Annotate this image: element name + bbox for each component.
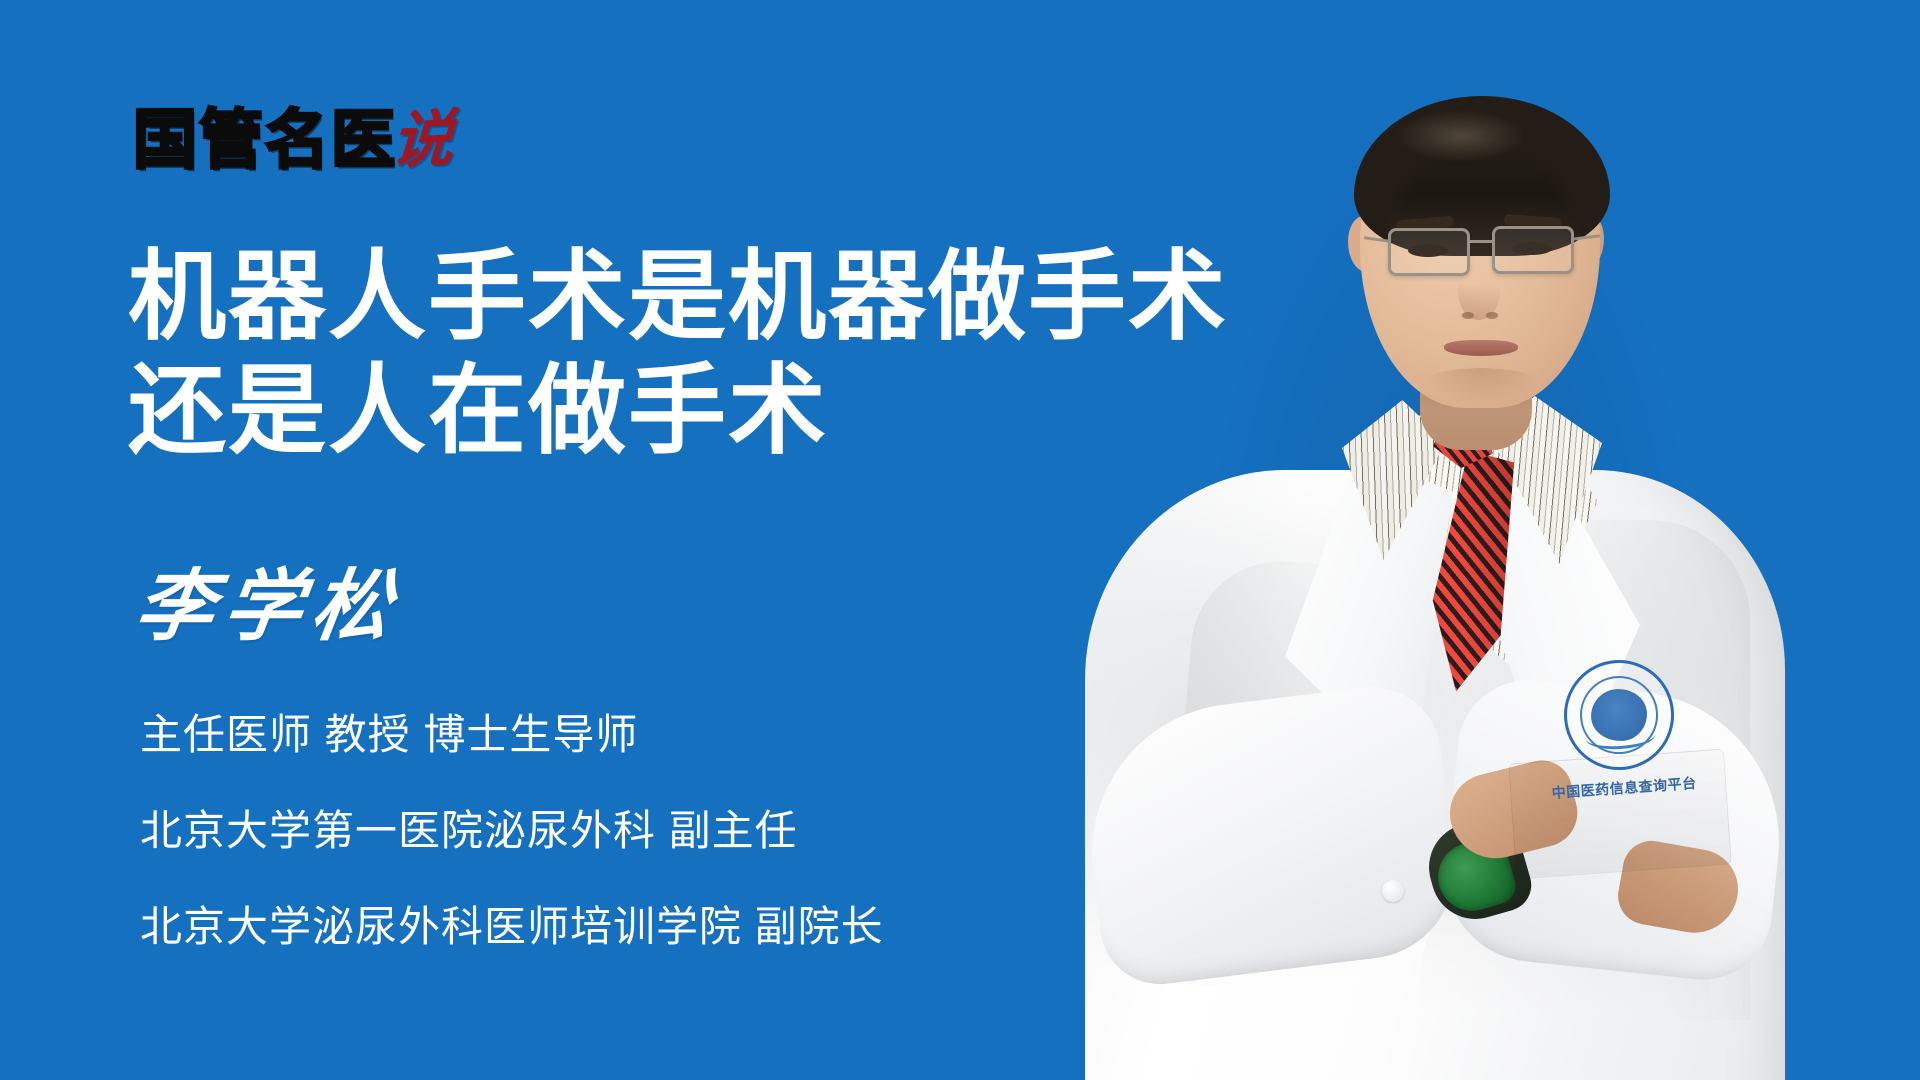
chin-shadow bbox=[1420, 368, 1542, 402]
speaker-portrait: 中国医药信息查询平台 bbox=[1120, 0, 1920, 1080]
eyeglasses-bridge bbox=[1469, 240, 1494, 243]
title-line-1: 机器人手术是机器做手术 bbox=[128, 240, 1128, 354]
slide-canvas: 国管名医 说 机器人手术是机器做手术 还是人在做手术 李学松 主任医师 教授 博… bbox=[0, 0, 1920, 1080]
speaker-name: 李学松 bbox=[131, 568, 406, 646]
credential-line: 北京大学第一医院泌尿外科 副主任 bbox=[140, 810, 884, 852]
coat-badge: 中国医药信息查询平台 bbox=[1535, 655, 1704, 804]
program-logo-main-text: 国管名医 bbox=[133, 108, 397, 172]
nostril-left bbox=[1462, 312, 1474, 319]
badge-emblem-icon bbox=[1560, 656, 1677, 773]
hair-highlight bbox=[1396, 110, 1526, 162]
eyeglasses-lens-right bbox=[1492, 226, 1574, 274]
eyeglasses-lens-left bbox=[1388, 228, 1470, 276]
credential-line: 北京大学泌尿外科医师培训学院 副院长 bbox=[140, 906, 884, 948]
title-line-2: 还是人在做手术 bbox=[128, 354, 1128, 468]
nostril-right bbox=[1486, 312, 1498, 319]
slide-title: 机器人手术是机器做手术 还是人在做手术 bbox=[128, 240, 1128, 467]
coat-button bbox=[1382, 880, 1404, 902]
speaker-credentials: 主任医师 教授 博士生导师 北京大学第一医院泌尿外科 副主任 北京大学泌尿外科医… bbox=[140, 714, 884, 948]
program-logo: 国管名医 说 bbox=[133, 92, 453, 172]
program-logo-accent-text: 说 bbox=[389, 108, 455, 173]
credential-line: 主任医师 教授 博士生导师 bbox=[140, 714, 884, 756]
mouth bbox=[1444, 340, 1518, 356]
